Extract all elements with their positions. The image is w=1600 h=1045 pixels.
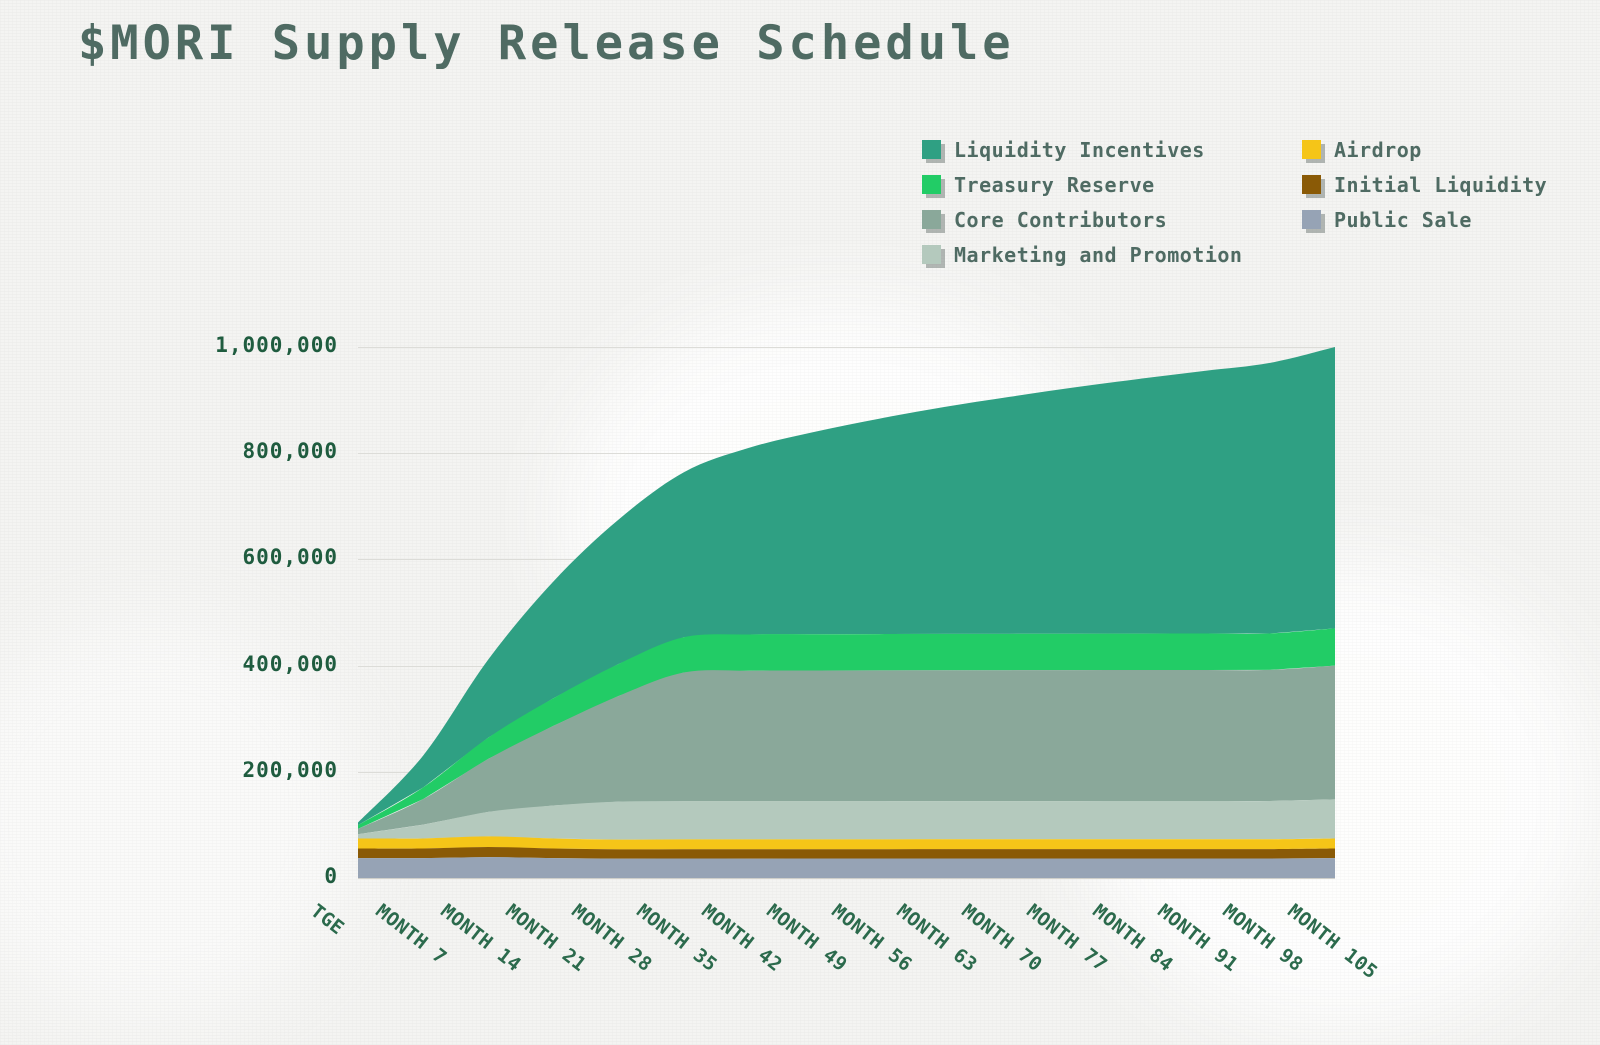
y-axis-tick-label: 800,000 bbox=[158, 439, 338, 463]
y-axis-tick-label: 600,000 bbox=[158, 545, 338, 569]
y-axis-tick-label: 0 bbox=[158, 864, 338, 888]
chart-canvas: $MORI Supply Release Schedule Liquidity … bbox=[0, 0, 1600, 1045]
x-axis-tick-label: MONTH 105 bbox=[1283, 900, 1381, 983]
area-plot bbox=[358, 347, 1335, 878]
x-axis-tick-label: MONTH 7 bbox=[372, 900, 451, 969]
axis-baseline bbox=[358, 878, 1335, 879]
stacked-area-chart: 0200,000400,000600,000800,0001,000,000 T… bbox=[0, 0, 1600, 1045]
y-axis-tick-label: 400,000 bbox=[158, 652, 338, 676]
area-series bbox=[358, 857, 1335, 878]
y-axis-tick-label: 1,000,000 bbox=[158, 333, 338, 357]
x-axis-tick-label: TGE bbox=[306, 900, 348, 939]
y-axis-tick-label: 200,000 bbox=[158, 758, 338, 782]
